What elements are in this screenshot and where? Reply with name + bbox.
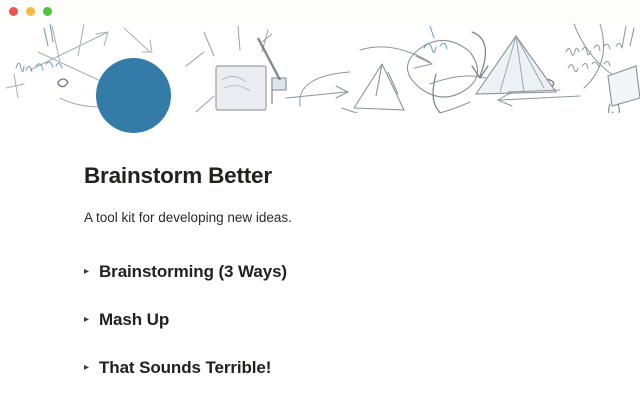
window-controls (9, 7, 52, 16)
list-item-label: Brainstorming (3 Ways) (99, 262, 287, 282)
list-item-brainstorming[interactable]: ▸ Brainstorming (3 Ways) (84, 248, 604, 296)
list-item-mash-up[interactable]: ▸ Mash Up (84, 296, 604, 344)
table-of-contents-list: ▸ Brainstorming (3 Ways) ▸ Mash Up ▸ Tha… (84, 248, 604, 392)
triangle-right-icon: ▸ (84, 267, 99, 277)
page-subtitle: A tool kit for developing new ideas. (84, 210, 292, 225)
sketch-square (216, 66, 266, 110)
sketch-square-right (608, 66, 640, 106)
maximize-button[interactable] (43, 7, 52, 16)
list-item-label: That Sounds Terrible! (99, 358, 271, 378)
triangle-right-icon: ▸ (84, 315, 99, 325)
sketch-triangle-mid (354, 64, 404, 110)
close-button[interactable] (9, 7, 18, 16)
blue-circle-graphic (96, 58, 171, 133)
sketch-circle-right (407, 40, 477, 97)
list-item-that-sounds-terrible[interactable]: ▸ That Sounds Terrible! (84, 344, 604, 392)
list-item-label: Mash Up (99, 310, 169, 330)
sketch-cone (476, 36, 556, 94)
minimize-button[interactable] (26, 7, 35, 16)
app-window: Brainstorm Better A tool kit for develop… (0, 0, 640, 400)
window-titlebar (0, 0, 640, 22)
page-title: Brainstorm Better (84, 163, 272, 189)
triangle-right-icon: ▸ (84, 363, 99, 373)
